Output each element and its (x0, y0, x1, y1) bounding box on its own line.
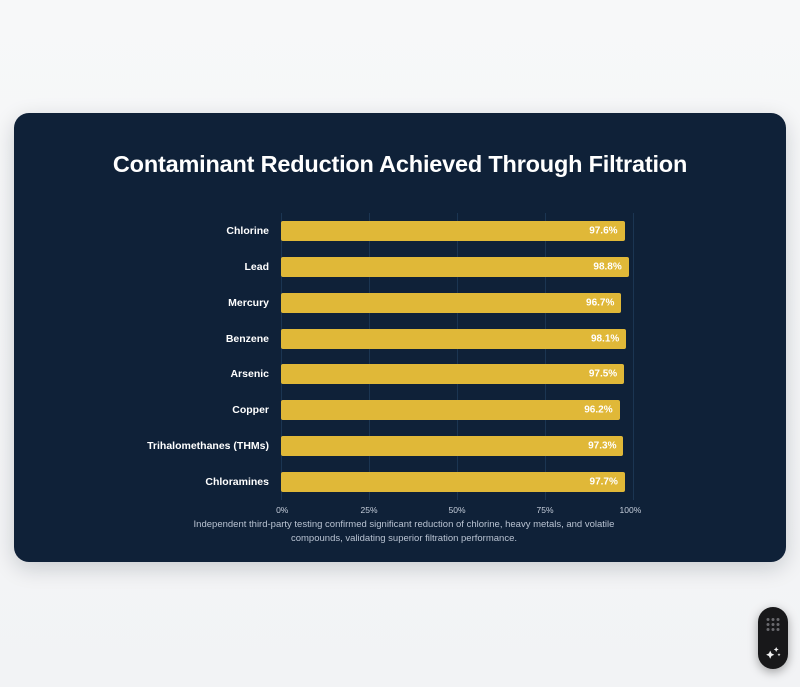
bar-value-label: 97.6% (589, 225, 617, 236)
bar-fill[interactable]: 98.1% (281, 329, 626, 349)
bar-row: Trihalomethanes (THMs)97.3% (281, 436, 633, 456)
gridline (633, 213, 634, 500)
bar-value-label: 96.7% (586, 297, 614, 308)
bar-track: 97.5% (281, 364, 633, 384)
bar-track: 98.1% (281, 329, 633, 349)
x-axis-tick-label: 0% (276, 505, 288, 515)
bar-fill[interactable]: 97.6% (281, 221, 625, 241)
drag-handle-icon[interactable] (767, 618, 780, 631)
floating-assistant-widget[interactable] (758, 607, 788, 669)
bar-track: 96.2% (281, 400, 633, 420)
bar-fill[interactable]: 97.3% (281, 436, 623, 456)
bar-row: Mercury96.7% (281, 293, 633, 313)
bar-category-label: Chlorine (226, 225, 269, 237)
bar-value-label: 97.7% (590, 477, 618, 488)
bar-row: Chlorine97.6% (281, 221, 633, 241)
bar-track: 97.6% (281, 221, 633, 241)
bar-value-label: 98.1% (591, 333, 619, 344)
bar-value-label: 97.5% (589, 369, 617, 380)
x-axis-tick-label: 100% (620, 505, 642, 515)
chart-caption: Independent third-party testing confirme… (184, 518, 624, 546)
bar-track: 97.7% (281, 472, 633, 492)
sparkle-icon[interactable] (764, 643, 782, 661)
bar-category-label: Lead (244, 261, 269, 273)
chart-title: Contaminant Reduction Achieved Through F… (14, 151, 786, 178)
bar-row: Copper96.2% (281, 400, 633, 420)
bar-category-label: Arsenic (230, 368, 269, 380)
x-axis-tick-label: 75% (536, 505, 553, 515)
bar-category-label: Benzene (226, 333, 269, 345)
bar-row: Lead98.8% (281, 257, 633, 277)
bar-category-label: Chloramines (205, 476, 269, 488)
bar-category-label: Mercury (228, 297, 269, 309)
bar-row: Chloramines97.7% (281, 472, 633, 492)
x-axis-tick-label: 25% (360, 505, 377, 515)
bar-fill[interactable]: 97.7% (281, 472, 625, 492)
bar-fill[interactable]: 96.2% (281, 400, 620, 420)
bar-category-label: Trihalomethanes (THMs) (147, 440, 269, 452)
bar-row: Benzene98.1% (281, 329, 633, 349)
bar-value-label: 98.8% (593, 261, 621, 272)
bar-value-label: 97.3% (588, 441, 616, 452)
plot-area: Chlorine97.6%Lead98.8%Mercury96.7%Benzen… (281, 213, 633, 500)
bar-track: 97.3% (281, 436, 633, 456)
bar-fill[interactable]: 98.8% (281, 257, 629, 277)
x-axis-tick-label: 50% (448, 505, 465, 515)
bar-category-label: Copper (232, 404, 269, 416)
bar-track: 98.8% (281, 257, 633, 277)
bar-rows: Chlorine97.6%Lead98.8%Mercury96.7%Benzen… (281, 213, 633, 500)
bar-track: 96.7% (281, 293, 633, 313)
bar-fill[interactable]: 96.7% (281, 293, 621, 313)
bar-row: Arsenic97.5% (281, 364, 633, 384)
chart-card: Contaminant Reduction Achieved Through F… (14, 113, 786, 562)
bar-fill[interactable]: 97.5% (281, 364, 624, 384)
bar-value-label: 96.2% (584, 405, 612, 416)
